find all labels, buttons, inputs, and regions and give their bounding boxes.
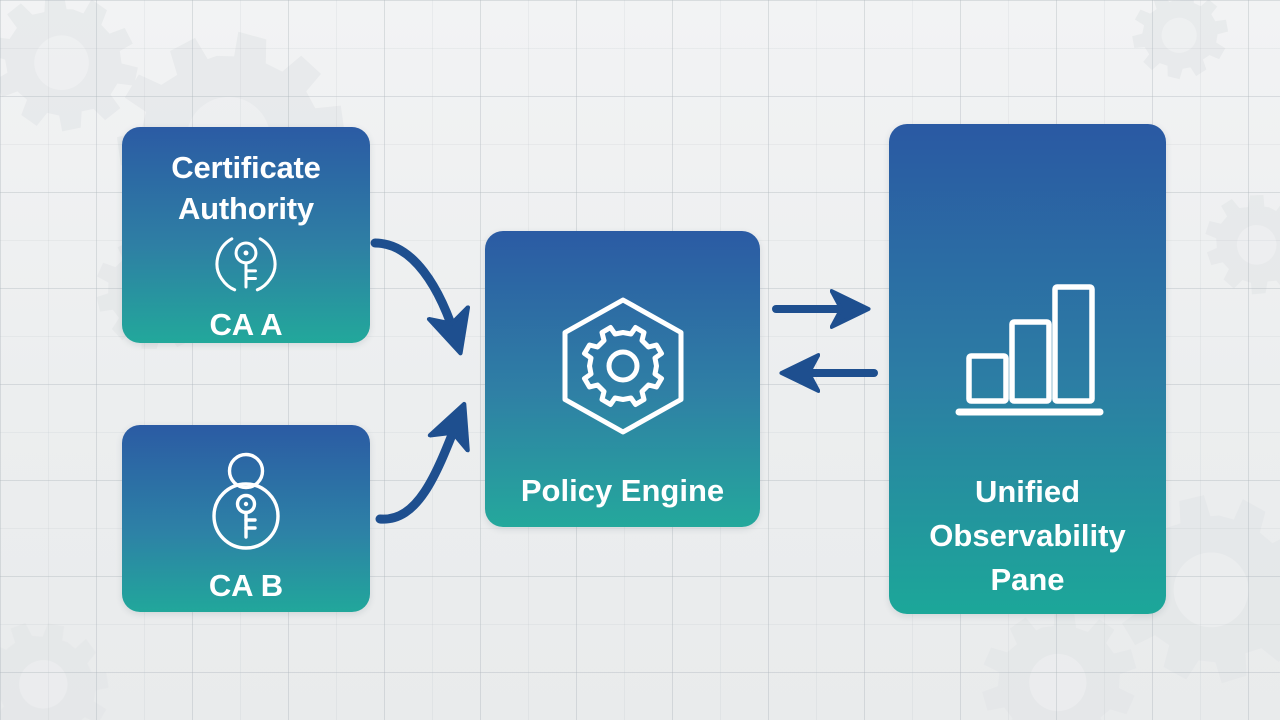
bar-chart-icon	[952, 279, 1104, 424]
node-label-unified-observability-pane: Unified Observability Pane	[929, 470, 1125, 602]
node-label-policy-engine: Policy Engine	[521, 469, 724, 513]
node-certificate-authority-ca-b[interactable]: CA B	[122, 425, 370, 612]
certificate-key-icon	[208, 235, 284, 297]
node-unified-observability-pane[interactable]: Unified Observability Pane	[889, 124, 1166, 614]
node-policy-engine[interactable]: Policy Engine	[485, 231, 760, 527]
diagram-canvas: Certificate Authority CA A	[0, 0, 1280, 720]
node-sublabel-ca-b: CA B	[209, 567, 283, 604]
node-certificate-authority-ca-a[interactable]: Certificate Authority CA A	[122, 127, 370, 343]
hexagon-gear-icon	[550, 293, 696, 439]
node-sublabel-ca-a: CA A	[209, 306, 282, 343]
node-title-ca-a: Certificate Authority	[171, 147, 320, 229]
person-key-icon	[204, 451, 288, 557]
